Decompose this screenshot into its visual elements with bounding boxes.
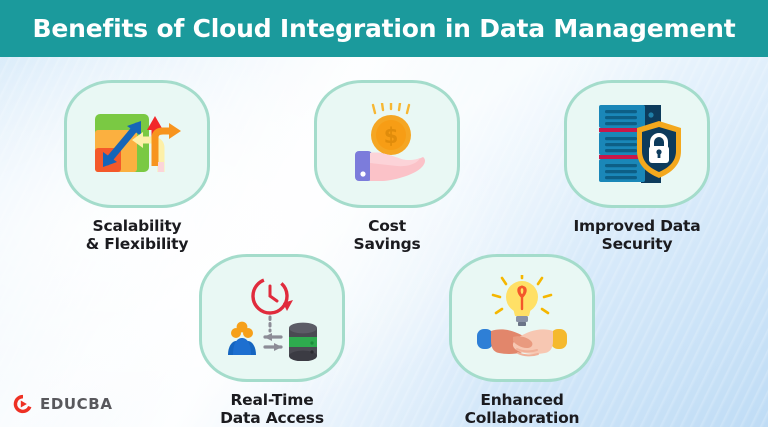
svg-text:$: $ <box>384 124 399 148</box>
benefit-label: Scalability & Flexibility <box>62 217 212 254</box>
cost-savings-icon: $ <box>339 103 435 185</box>
infographic-canvas: Benefits of Cloud Integration in Data Ma… <box>0 0 768 427</box>
benefit-card-shape <box>449 254 595 382</box>
benefit-card-scalability-flexibility[interactable]: Scalability & Flexibility <box>62 80 212 254</box>
benefit-card-real-time-data-access[interactable]: Real-Time Data Access <box>197 254 347 427</box>
benefit-label: Improved Data Security <box>562 217 712 254</box>
page-title: Benefits of Cloud Integration in Data Ma… <box>33 14 736 43</box>
educba-logo[interactable]: EDUCBA <box>12 393 113 415</box>
benefit-label: Real-Time Data Access <box>197 391 347 427</box>
benefit-card-cost-savings[interactable]: $ Cost Savings <box>312 80 462 254</box>
benefit-card-enhanced-collaboration[interactable]: Enhanced Collaboration <box>447 254 597 427</box>
benefit-card-shape: $ <box>314 80 460 208</box>
benefit-card-shape <box>64 80 210 208</box>
benefit-label: Cost Savings <box>312 217 462 254</box>
improved-data-security-icon <box>591 101 683 187</box>
scalability-flexibility-icon <box>89 104 185 184</box>
benefit-label: Enhanced Collaboration <box>447 391 597 427</box>
educba-mark-icon <box>12 393 34 415</box>
benefit-card-shape <box>199 254 345 382</box>
real-time-data-access-icon <box>223 275 321 361</box>
educba-wordmark: EDUCBA <box>40 395 113 413</box>
header-bar: Benefits of Cloud Integration in Data Ma… <box>0 0 768 57</box>
benefit-card-improved-data-security[interactable]: Improved Data Security <box>562 80 712 254</box>
enhanced-collaboration-icon <box>473 275 571 361</box>
benefit-card-shape <box>564 80 710 208</box>
